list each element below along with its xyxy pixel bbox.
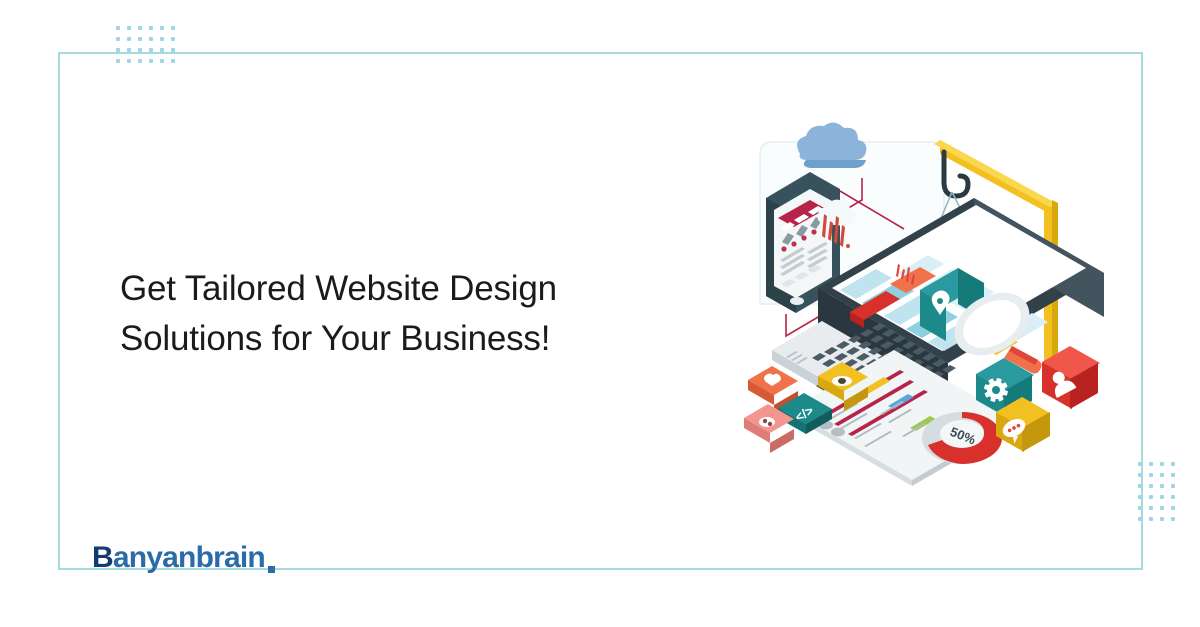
dot <box>138 37 142 41</box>
dot <box>138 48 142 52</box>
dot <box>1138 473 1142 477</box>
dot <box>1171 473 1175 477</box>
dot <box>160 26 164 30</box>
dot <box>171 59 175 63</box>
dot <box>1149 462 1153 466</box>
dot <box>171 26 175 30</box>
dot <box>1149 495 1153 499</box>
dot <box>1160 462 1164 466</box>
logo-dot-mark <box>268 566 275 573</box>
dot <box>1160 473 1164 477</box>
dot-grid-bottom-right <box>1138 462 1182 528</box>
dot <box>1138 517 1142 521</box>
dot <box>149 26 153 30</box>
dot <box>116 37 120 41</box>
dot <box>138 59 142 63</box>
logo-initial: B <box>92 541 113 575</box>
cloud-icon <box>797 122 866 168</box>
dot <box>1160 484 1164 488</box>
headline-line-1: Get Tailored Website Design <box>120 264 640 314</box>
dot <box>171 48 175 52</box>
dot <box>1171 462 1175 466</box>
dot <box>127 59 131 63</box>
dot <box>1160 517 1164 521</box>
dot-grid-top-left <box>116 26 182 70</box>
dot <box>127 26 131 30</box>
donut-gauge: 50% <box>922 412 1002 464</box>
dot <box>1138 484 1142 488</box>
headline: Get Tailored Website Design Solutions fo… <box>120 264 640 364</box>
dot <box>116 26 120 30</box>
dot <box>149 37 153 41</box>
promo-banner: Get Tailored Website Design Solutions fo… <box>0 0 1200 627</box>
headline-line-2: Solutions for Your Business! <box>120 314 640 364</box>
dot <box>149 48 153 52</box>
dot <box>1171 506 1175 510</box>
dot <box>160 37 164 41</box>
dot <box>1149 506 1153 510</box>
dot <box>149 59 153 63</box>
dot <box>1160 495 1164 499</box>
logo-banyanbrain: B anyanbrain <box>92 541 275 575</box>
dot <box>1171 495 1175 499</box>
dot <box>1149 473 1153 477</box>
dot <box>127 48 131 52</box>
dot <box>116 59 120 63</box>
dot <box>1138 462 1142 466</box>
dot <box>1171 517 1175 521</box>
dot <box>138 26 142 30</box>
dot <box>116 48 120 52</box>
dot <box>1160 506 1164 510</box>
dot <box>1138 495 1142 499</box>
dot <box>160 59 164 63</box>
isometric-illustration: 50% </> <box>712 118 1112 510</box>
dot <box>127 37 131 41</box>
dot <box>1149 484 1153 488</box>
logo-wordmark: anyanbrain <box>113 541 265 575</box>
dot <box>160 48 164 52</box>
dot <box>1171 484 1175 488</box>
dot <box>171 37 175 41</box>
dot <box>1149 517 1153 521</box>
dot <box>1138 506 1142 510</box>
